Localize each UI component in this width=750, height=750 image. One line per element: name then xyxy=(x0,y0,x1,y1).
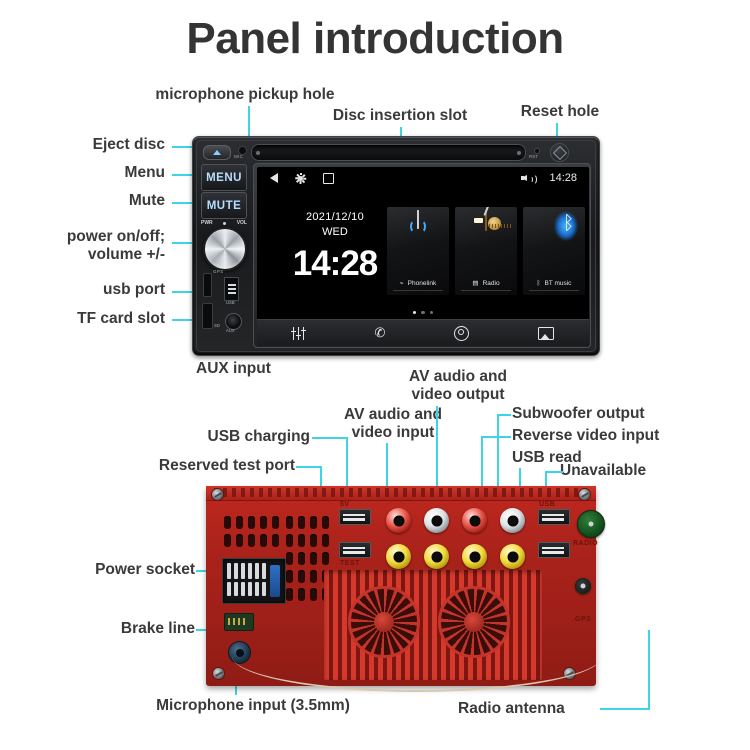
callout-subwoofer-output: Subwoofer output xyxy=(512,405,702,423)
pwr-label: PWR xyxy=(201,220,213,226)
usb-port[interactable] xyxy=(224,277,239,301)
leader-line-reverse xyxy=(481,436,511,438)
gps-antenna-jack[interactable] xyxy=(575,578,591,594)
reserved-test-port[interactable] xyxy=(339,542,371,558)
mute-button[interactable]: MUTE xyxy=(201,192,247,219)
ir-sensor-icon xyxy=(550,143,569,162)
home-weekday: WED xyxy=(279,226,391,238)
tile-caption: ᛒ BT music xyxy=(523,280,585,287)
rca-jack-audio-output-left[interactable] xyxy=(424,508,449,533)
bluetooth-small-icon: ᛒ xyxy=(537,280,541,287)
callout-microphone-input: Microphone input (3.5mm) xyxy=(128,697,378,715)
power-socket[interactable] xyxy=(222,558,286,604)
app-tile-bt-music[interactable]: ᛒ ᛒ BT music xyxy=(523,207,585,295)
status-bar: 14:28 xyxy=(257,167,589,189)
usb-unavailable-port[interactable] xyxy=(538,542,570,558)
callout-usb-port: usb port xyxy=(40,281,165,299)
tile-underline xyxy=(529,290,579,291)
radio-antenna-jack[interactable] xyxy=(577,510,605,538)
volume-cone-icon xyxy=(521,175,527,181)
app-tile-phonelink[interactable]: ⌁ Phonelink xyxy=(387,207,449,295)
app-tile-row: ⌁ Phonelink xyxy=(387,207,587,295)
equalizer-icon[interactable] xyxy=(292,327,306,340)
radio-small-icon: ▤ xyxy=(472,279,478,287)
bottom-nav-bar: ✆ xyxy=(257,319,589,346)
callout-power-socket: Power socket xyxy=(65,561,195,579)
radio-grill-icon xyxy=(489,224,511,228)
mounting-screw xyxy=(211,488,224,501)
volume-wave-icon xyxy=(530,174,537,185)
page-dot-active[interactable] xyxy=(413,311,417,315)
signal-wave-icon xyxy=(417,220,426,233)
page-indicator xyxy=(257,311,589,315)
pcb-top-teeth xyxy=(214,488,588,497)
picture-icon[interactable] xyxy=(538,327,554,340)
volume-icon[interactable] xyxy=(521,173,535,184)
mic-silkscreen-label: MIC xyxy=(234,154,243,159)
usb-5v-silkscreen: 5V xyxy=(340,501,350,508)
callout-usb-charging: USB charging xyxy=(180,428,310,446)
leader-line-subwoofer xyxy=(497,414,511,416)
pcb-top-edge xyxy=(206,486,596,501)
tile-caption: ▤ Radio xyxy=(455,279,517,287)
callout-tf-card-slot: TF card slot xyxy=(20,310,165,328)
bluetooth-glyph-icon: ᛒ xyxy=(563,214,574,233)
callout-unavailable: Unavailable xyxy=(560,462,710,480)
power-volume-knob[interactable] xyxy=(203,227,247,271)
rca-jack-video-input[interactable] xyxy=(386,544,411,569)
eject-triangle-icon xyxy=(213,150,221,155)
callout-aux-input: AUX input xyxy=(196,360,336,378)
callout-reset-hole: Reset hole xyxy=(490,103,630,121)
head-unit-faceplate: MIC RST MENU MUTE PWR VOL GPS USB SD AUX xyxy=(192,136,600,356)
phone-icon[interactable]: ✆ xyxy=(375,327,386,340)
callout-microphone-pickup-hole: microphone pickup hole xyxy=(120,86,370,104)
mounting-screw xyxy=(578,488,591,501)
radio-silkscreen: RADIO xyxy=(573,540,598,547)
brake-line-connector[interactable] xyxy=(224,613,254,631)
callout-brake-line: Brake line xyxy=(85,620,195,638)
vent-grid-left xyxy=(224,516,279,547)
gps-silkscreen-rear: GPS xyxy=(575,616,591,623)
leader-line-radio-antenna-v xyxy=(648,630,650,709)
tile-label-bt-music: BT music xyxy=(544,280,571,287)
disc-insertion-slot[interactable] xyxy=(251,144,526,161)
home-icon[interactable] xyxy=(323,173,334,184)
leader-line-test-port xyxy=(296,466,322,468)
touchscreen[interactable]: 14:28 2021/12/10 WED 14:28 xyxy=(257,167,589,346)
rca-jack-reverse-video-input[interactable] xyxy=(500,544,525,569)
usb-contact-icon xyxy=(228,292,236,294)
page-title: Panel introduction xyxy=(0,14,750,64)
tile-underline xyxy=(393,290,443,291)
tile-underline xyxy=(461,290,511,291)
screen-frame: 14:28 2021/12/10 WED 14:28 xyxy=(253,163,591,348)
usb-contact-icon xyxy=(228,288,236,290)
radio-dial-icon xyxy=(474,218,483,223)
usb-contact-icon xyxy=(228,284,236,286)
power-socket-pins xyxy=(227,563,266,596)
vent-grid-center xyxy=(286,516,329,601)
ir-diamond-icon xyxy=(552,145,566,159)
callout-power-volume: power on/off; volume +/- xyxy=(20,228,165,264)
usb-charging-port[interactable] xyxy=(339,509,371,525)
callout-disc-insertion-slot: Disc insertion slot xyxy=(300,107,500,125)
tile-label-phonelink: Phonelink xyxy=(408,280,437,287)
radio-antenna-wire xyxy=(232,620,602,692)
home-clock: 14:28 xyxy=(279,244,391,284)
panel-introduction-diagram: Panel introduction microphone pickup hol… xyxy=(0,0,750,750)
usb-right-silkscreen: USB xyxy=(539,501,555,508)
brightness-icon[interactable] xyxy=(295,173,306,184)
rca-jack-video-output[interactable] xyxy=(462,544,487,569)
tf-card-slot[interactable] xyxy=(202,303,213,329)
callout-mute: Mute xyxy=(40,192,165,210)
power-volume-silkscreen: PWR VOL xyxy=(201,220,247,226)
callout-reverse-video-input: Reverse video input xyxy=(512,427,712,445)
leader-line-usb-charging xyxy=(312,437,348,439)
aux-silkscreen-label: AUX xyxy=(226,328,235,333)
power-socket-blue-tab xyxy=(270,565,280,597)
radio-body-icon xyxy=(485,212,487,231)
phone-body-icon xyxy=(417,210,419,229)
leader-line-radio-antenna xyxy=(600,708,650,710)
usb-read-port[interactable] xyxy=(538,509,570,525)
usb-silkscreen-label: USB xyxy=(226,300,235,305)
tile-label-radio: Radio xyxy=(483,280,500,287)
status-bar-time: 14:28 xyxy=(549,172,577,184)
home-date: 2021/12/10 xyxy=(279,211,391,223)
menu-button[interactable]: MENU xyxy=(201,164,247,191)
test-silkscreen: TEST xyxy=(340,560,360,567)
reset-silkscreen-label: RST xyxy=(529,154,538,159)
status-bar-right: 14:28 xyxy=(521,172,577,184)
leader-line-unavailable xyxy=(545,471,563,473)
rca-jack-subwoofer-output[interactable] xyxy=(500,508,525,533)
radio-icon xyxy=(485,213,487,231)
eject-disc-button[interactable] xyxy=(203,145,231,160)
page-dot[interactable] xyxy=(430,311,434,315)
tile-caption: ⌁ Phonelink xyxy=(387,279,449,287)
callout-reserved-test-port: Reserved test port xyxy=(130,457,295,475)
callout-eject-disc: Eject disc xyxy=(40,136,165,154)
status-bar-left xyxy=(270,173,334,184)
gear-icon[interactable] xyxy=(454,326,469,341)
sd-silkscreen-label: SD xyxy=(214,323,220,328)
callout-menu: Menu xyxy=(40,164,165,182)
app-tile-radio[interactable]: ▤ Radio xyxy=(455,207,517,295)
gps-silkscreen-label: GPS xyxy=(213,269,224,274)
rca-jack-audio-input-right[interactable] xyxy=(386,508,411,533)
rca-jack-video-input-2[interactable] xyxy=(424,544,449,569)
phonelink-icon xyxy=(417,211,419,229)
separator-dot-icon xyxy=(223,222,226,225)
page-dot[interactable] xyxy=(421,311,425,315)
callout-av-output: AV audio and video output xyxy=(378,368,538,404)
mounting-screw xyxy=(212,667,225,680)
gps-antenna-slot xyxy=(203,273,212,297)
rca-jack-audio-output-right[interactable] xyxy=(462,508,487,533)
date-time-widget: 2021/12/10 WED 14:28 xyxy=(279,211,391,284)
back-icon[interactable] xyxy=(270,173,278,183)
phonelink-small-icon: ⌁ xyxy=(400,279,404,287)
vol-label: VOL xyxy=(237,220,247,226)
